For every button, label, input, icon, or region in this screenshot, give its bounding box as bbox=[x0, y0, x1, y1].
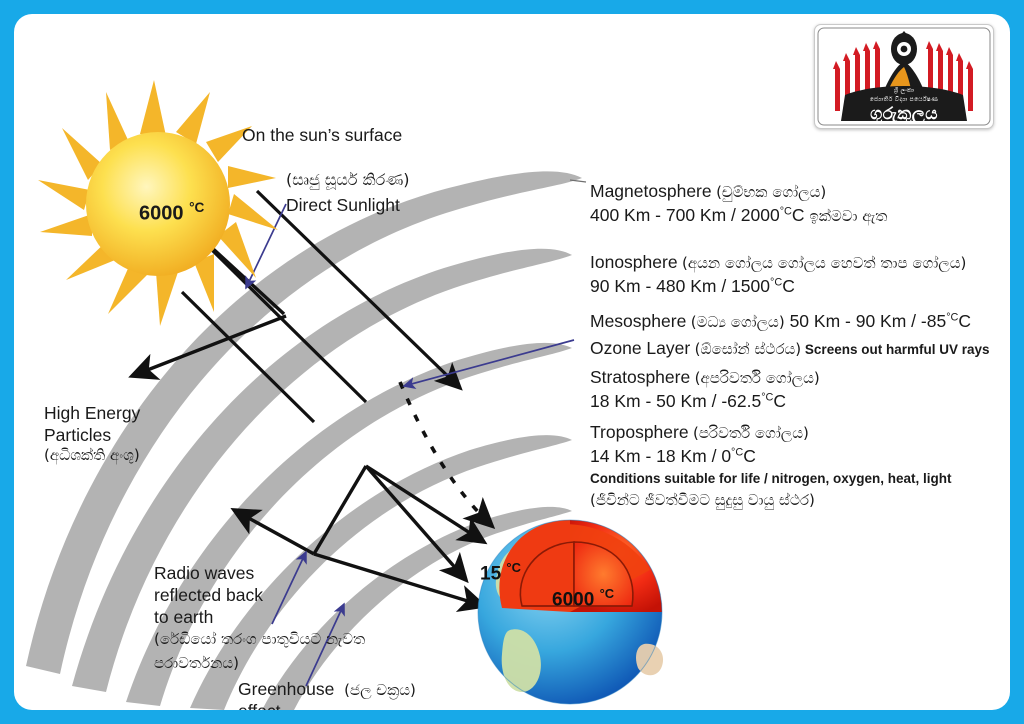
high-energy-line2: Particles bbox=[44, 424, 111, 446]
layer-detail-magnetosphere: 400 Km - 700 Km / 2000°CC ඉක්මවා ඇත bbox=[590, 204, 887, 227]
logo-line2: ජ්‍යොතිර් විද්‍යා පර්යේෂණ bbox=[815, 96, 993, 104]
radio-line3: to earth bbox=[154, 606, 213, 628]
layer-label-ozone: Ozone Layer (ඕසෝන් ස්ථරය) Screens out ha… bbox=[590, 337, 990, 360]
direct-sunlight-label: Direct Sunlight bbox=[286, 194, 400, 216]
sun-to-earth-ray bbox=[314, 554, 484, 606]
diagram-canvas: 6000 °C On the sun’s surface (සෘජු සූර්ය… bbox=[14, 14, 1010, 710]
layer-label-mesosphere: Mesosphere (මධ්‍ය ගෝලය) 50 Km - 90 Km / … bbox=[590, 310, 971, 333]
greenhouse-line1: Greenhouse (ජල චක්‍රය) bbox=[238, 678, 416, 700]
direct-sunlight-sinhala: (සෘජු සූර්ය කිරණ) bbox=[286, 170, 410, 190]
layer-detail-stratosphere: 18 Km - 50 Km / -62.5°CC bbox=[590, 390, 786, 413]
high-energy-line1: High Energy bbox=[44, 402, 140, 424]
logo-line3: ගුරුකුලය bbox=[815, 104, 993, 124]
poster-frame: 6000 °C On the sun’s surface (සෘජු සූර්ය… bbox=[0, 0, 1024, 724]
earth-core-temperature: 6000 °C bbox=[552, 586, 614, 611]
high-energy-sinhala: (අධිශක්ති අංශු) bbox=[44, 446, 140, 465]
layer-label-stratosphere: Stratosphere (අපරිවර්ති ගෝලය) bbox=[590, 366, 820, 389]
troposphere-conditions-sinhala: (ජීවින්ට ජීවත්වීමට සුදුසු වායු ස්ථර) bbox=[590, 491, 815, 510]
radio-sinhala-line2: පරාවර්තනය) bbox=[154, 654, 239, 673]
layer-label-troposphere: Troposphere (පරිවර්ති ගෝලය) bbox=[590, 421, 809, 444]
radio-line1: Radio waves bbox=[154, 562, 254, 584]
sun-temperature-label: 6000 °C bbox=[139, 199, 204, 227]
layer-label-magnetosphere: Magnetosphere (චුම්භක ගෝලය) bbox=[590, 180, 826, 203]
layer-label-ionosphere: Ionosphere (අයන ගෝලය ගෝලය හෙවත් තාප ගෝලය… bbox=[590, 251, 966, 274]
earth-surface-temperature: 15 °C bbox=[480, 560, 521, 585]
pointer-ozone-layer bbox=[404, 340, 574, 386]
gurukulaya-logo: ශ්‍රී ලංකා ජ්‍යොතිර් විද්‍යා පර්යේෂණ ගුර… bbox=[814, 24, 994, 129]
radio-line2: reflected back bbox=[154, 584, 263, 606]
troposphere-conditions: Conditions suitable for life / nitrogen,… bbox=[590, 470, 952, 487]
earth-graphic bbox=[478, 520, 663, 704]
layer-detail-troposphere: 14 Km - 18 Km / 0°CC bbox=[590, 445, 756, 468]
radio-sinhala-line1: (රේඩියෝ තරංග පාතුවියට නැවත bbox=[154, 630, 365, 649]
sun-surface-caption: On the sun’s surface bbox=[242, 124, 402, 146]
greenhouse-line2: effect bbox=[238, 700, 281, 710]
layer-detail-ionosphere: 90 Km - 480 Km / 1500°CC bbox=[590, 275, 795, 298]
logo-line1: ශ්‍රී ලංකා bbox=[815, 87, 993, 95]
